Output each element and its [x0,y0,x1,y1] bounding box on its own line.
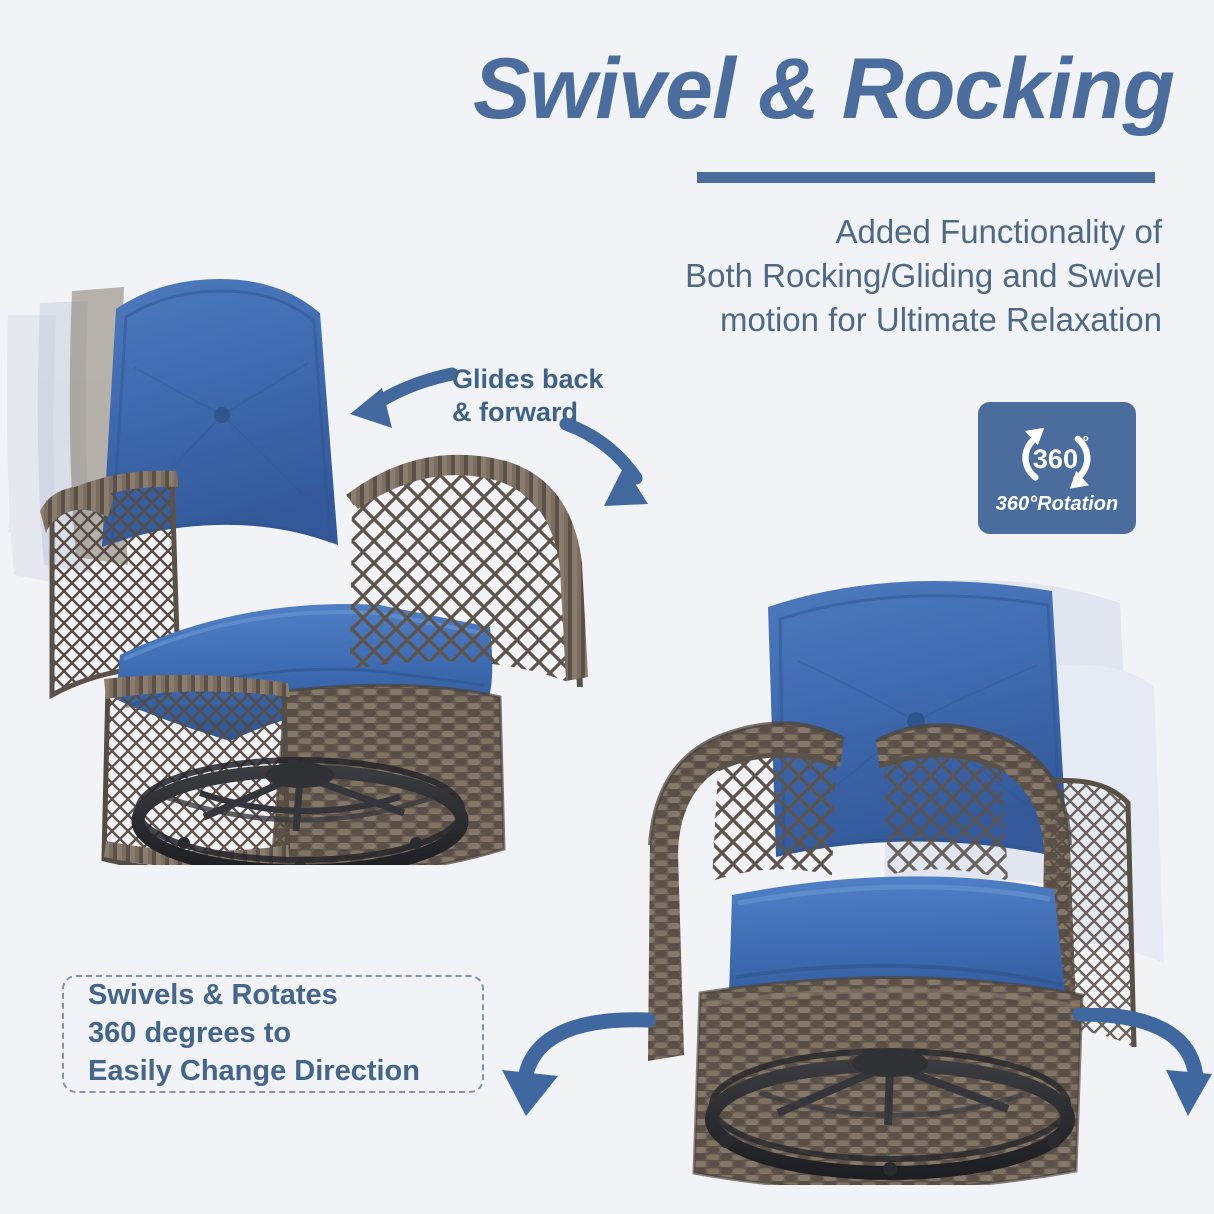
rotation-360-badge: 360 ° 360°Rotation [978,402,1136,534]
subtitle-block: Added Functionality of Both Rocking/Glid… [542,210,1162,342]
swivel-callout-line-2: 360 degrees to [88,1015,482,1053]
subtitle-line-1: Added Functionality of [542,210,1162,254]
title-underline-rule [697,172,1155,183]
poster-canvas: Swivel & Rocking Added Functionality of … [0,0,1214,1214]
swivel-callout-line-3: Easily Change Direction [88,1053,482,1091]
subtitle-line-2: Both Rocking/Gliding and Swivel [542,254,1162,298]
subtitle-line-3: motion for Ultimate Relaxation [542,298,1162,342]
page-title: Swivel & Rocking [473,46,1174,132]
badge-degree-symbol: ° [1083,434,1089,451]
circular-rotation-arrows-icon: 360 ° [1009,421,1105,497]
glide-line-1: Glides back [452,363,604,396]
badge-360-value: 360 [1033,442,1078,473]
swivel-callout-box: Swivels & Rotates 360 degrees to Easily … [62,975,484,1093]
swivel-arrow-right [1070,1008,1214,1118]
swivel-arrow-left [496,1012,676,1122]
glide-arrow-right [552,414,682,534]
badge-label: 360°Rotation [996,493,1118,516]
left-chair-illustration [0,255,600,865]
swivel-callout-line-1: Swivels & Rotates [88,977,482,1015]
